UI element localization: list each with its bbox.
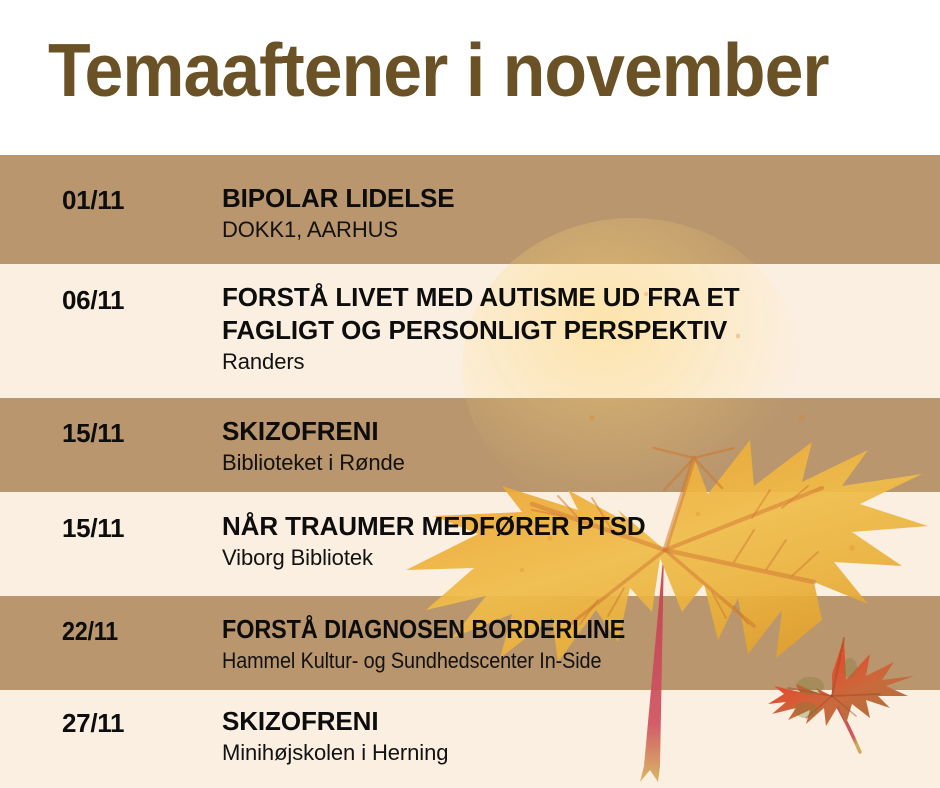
list-item: 27/11 SKIZOFRENI Minihøjskolen i Herning bbox=[0, 690, 940, 788]
event-date: 15/11 bbox=[62, 418, 124, 448]
event-venue: Biblioteket i Rønde bbox=[222, 449, 932, 477]
event-venue: Minihøjskolen i Herning bbox=[222, 739, 932, 767]
event-date: 22/11 bbox=[62, 616, 118, 646]
event-title: NÅR TRAUMER MEDFØRER PTSD bbox=[222, 510, 932, 543]
event-title: SKIZOFRENI bbox=[222, 705, 932, 738]
event-body: NÅR TRAUMER MEDFØRER PTSD Viborg Bibliot… bbox=[222, 510, 932, 572]
event-venue: DOKK1, AARHUS bbox=[222, 216, 932, 244]
list-item: 22/11 FORSTÅ DIAGNOSEN BORDERLINE Hammel… bbox=[0, 596, 940, 690]
page-title: Temaaftener i november bbox=[48, 28, 848, 112]
event-body: BIPOLAR LIDELSE DOKK1, AARHUS bbox=[222, 182, 932, 244]
list-item: 15/11 NÅR TRAUMER MEDFØRER PTSD Viborg B… bbox=[0, 492, 940, 596]
event-body: SKIZOFRENI Biblioteket i Rønde bbox=[222, 415, 932, 477]
event-title: FORSTÅ DIAGNOSEN BORDERLINE bbox=[222, 613, 861, 646]
event-date: 27/11 bbox=[62, 708, 124, 738]
event-title: SKIZOFRENI bbox=[222, 415, 932, 448]
event-date: 06/11 bbox=[62, 285, 124, 315]
event-title: BIPOLAR LIDELSE bbox=[222, 182, 932, 215]
list-item: 01/11 BIPOLAR LIDELSE DOKK1, AARHUS bbox=[0, 155, 940, 264]
event-title: FORSTÅ LIVET MED AUTISME UD FRA ET FAGLI… bbox=[222, 281, 932, 347]
list-item: 06/11 FORSTÅ LIVET MED AUTISME UD FRA ET… bbox=[0, 264, 940, 398]
header-bar: Temaaftener i november bbox=[0, 0, 940, 155]
event-date: 01/11 bbox=[62, 185, 124, 215]
event-venue: Viborg Bibliotek bbox=[222, 544, 932, 572]
event-venue: Hammel Kultur- og Sundhedscenter In-Side bbox=[222, 647, 861, 675]
event-date: 15/11 bbox=[62, 513, 124, 543]
poster-canvas: Temaaftener i november 01/11 BIPOLAR LID… bbox=[0, 0, 940, 788]
list-item: 15/11 SKIZOFRENI Biblioteket i Rønde bbox=[0, 398, 940, 492]
event-venue: Randers bbox=[222, 348, 932, 376]
event-body: FORSTÅ DIAGNOSEN BORDERLINE Hammel Kultu… bbox=[222, 613, 932, 675]
event-body: SKIZOFRENI Minihøjskolen i Herning bbox=[222, 705, 932, 767]
event-body: FORSTÅ LIVET MED AUTISME UD FRA ET FAGLI… bbox=[222, 281, 932, 376]
